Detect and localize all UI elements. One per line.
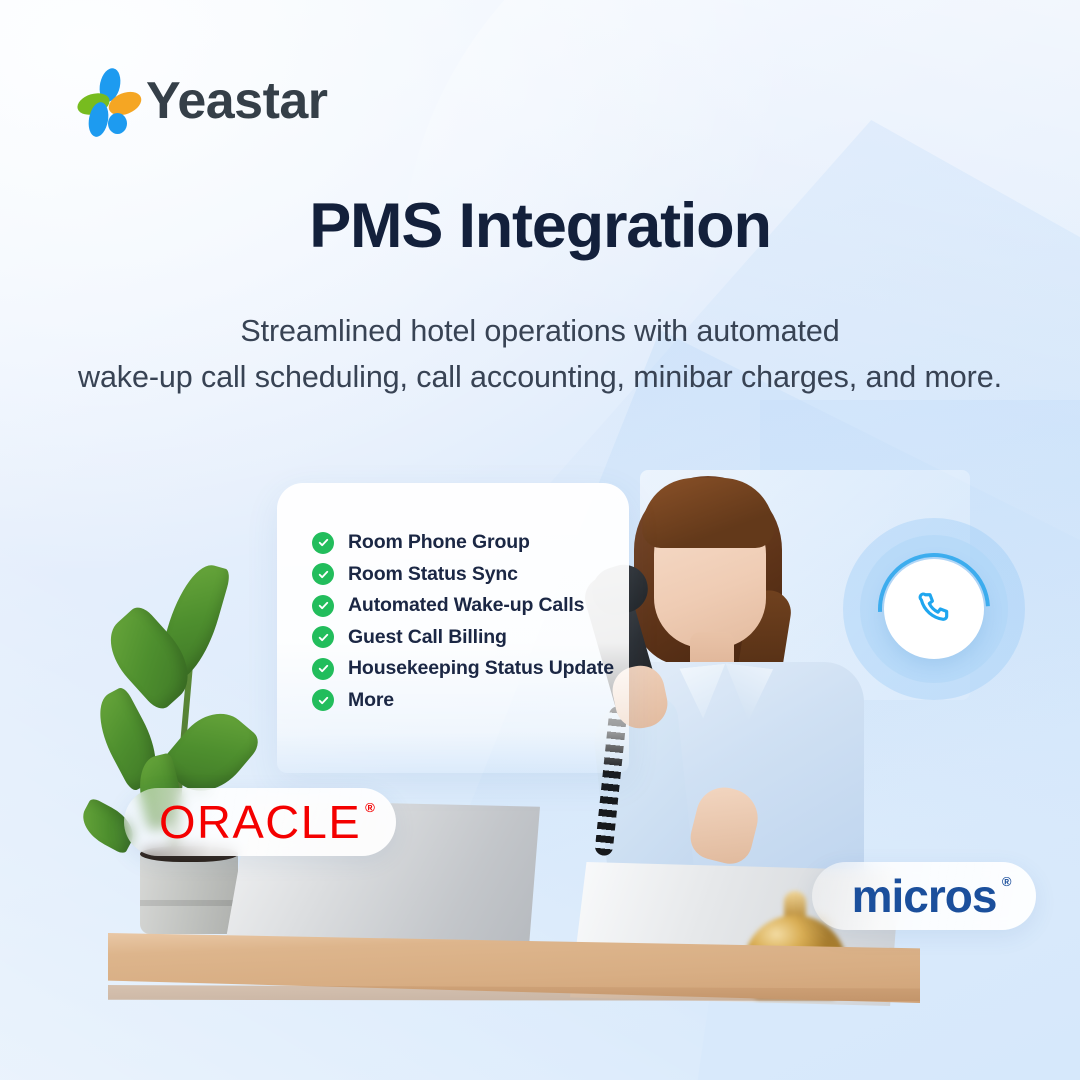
list-item[interactable]: Guest Call Billing [312,626,642,649]
service-bell-base [753,981,837,999]
partner-badge-micros[interactable]: micros ® [812,862,1036,930]
micros-wordmark: micros [852,870,997,922]
oracle-wordmark: ORACLE [159,796,361,848]
feature-label: Automated Wake-up Calls [348,594,584,617]
plant-pot [140,848,238,934]
yeastar-logo[interactable]: Yeastar [80,66,328,136]
service-bell-knob [784,891,806,919]
oracle-logo: ORACLE ® [159,799,361,845]
subtitle-line-2: wake-up call scheduling, call accounting… [78,360,1002,394]
wooden-desk [108,933,920,1003]
list-item[interactable]: Automated Wake-up Calls [312,594,642,617]
yeastar-pinwheel-icon [80,68,132,134]
registered-mark: ® [1002,875,1011,888]
feature-label: More [348,689,394,712]
page-subtitle: Streamlined hotel operations with automa… [0,308,1080,401]
logo-petal-dot [108,113,127,134]
list-item[interactable]: More [312,689,642,712]
promo-canvas: Yeastar PMS Integration Streamlined hote… [0,0,1080,1080]
feature-label: Housekeeping Status Update [348,657,614,680]
person-hand-open [686,782,764,869]
check-circle-icon [312,689,334,711]
headline-block: PMS Integration Streamlined hotel operat… [0,192,1080,401]
plant-leaf [96,602,205,713]
list-item[interactable]: Housekeeping Status Update [312,657,642,680]
brand-wordmark: Yeastar [146,75,328,127]
feature-label: Room Phone Group [348,531,530,554]
wooden-desk-edge [108,985,920,1001]
feature-label: Room Status Sync [348,563,518,586]
check-circle-icon [312,658,334,680]
list-item[interactable]: Room Status Sync [312,563,642,586]
feature-list: Room Phone Group Room Status Sync Automa… [312,531,642,712]
micros-logo: micros ® [852,873,997,919]
phone-handset-icon [915,590,953,628]
check-circle-icon [312,626,334,648]
plant-leaf [86,685,171,792]
feature-label: Guest Call Billing [348,626,507,649]
plant-leaf [154,558,232,688]
check-circle-icon [312,532,334,554]
page-title: PMS Integration [0,192,1080,260]
fiddle-leaf-plant [84,560,264,960]
list-item[interactable]: Room Phone Group [312,531,642,554]
phone-badge[interactable] [884,559,984,659]
check-circle-icon [312,563,334,585]
partner-badge-oracle[interactable]: ORACLE ® [124,788,396,856]
plant-pot-band [140,900,238,906]
check-circle-icon [312,595,334,617]
subtitle-line-1: Streamlined hotel operations with automa… [240,314,839,348]
phone-badge-decor [843,518,1025,700]
registered-mark: ® [365,801,376,814]
